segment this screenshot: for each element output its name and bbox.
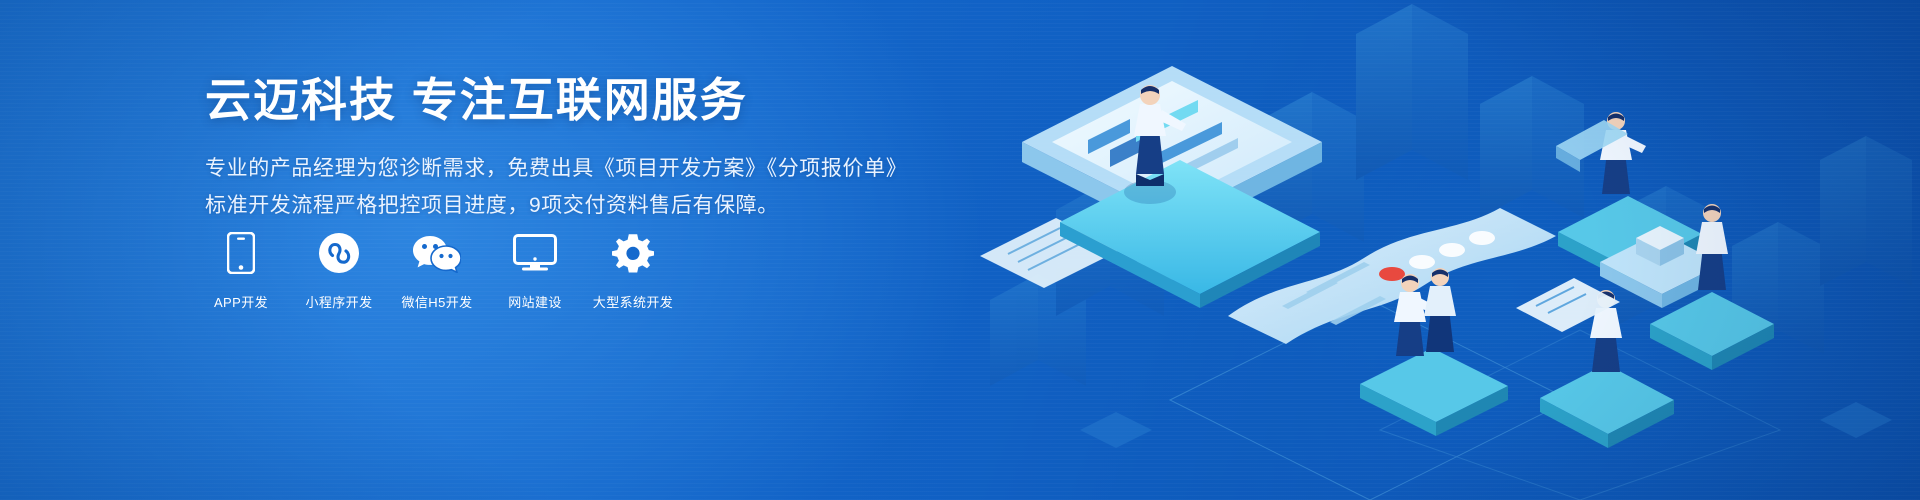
gear-icon (612, 230, 654, 276)
page-title: 云迈科技 专注互联网服务 (205, 72, 905, 128)
service-label: APP开发 (214, 292, 268, 311)
subtitle-line-2: 标准开发流程严格把控项目进度，9项交付资料售后有保障。 (205, 187, 905, 224)
service-item-website[interactable]: 网站建设 (499, 230, 571, 311)
service-item-large-system[interactable]: 大型系统开发 (597, 230, 669, 311)
service-item-app[interactable]: APP开发 (205, 230, 277, 311)
subtitle-line-1: 专业的产品经理为您诊断需求，免费出具《项目开发方案》《分项报价单》 (205, 150, 905, 187)
service-label: 网站建设 (508, 292, 562, 311)
service-item-mini-program[interactable]: 小程序开发 (303, 230, 375, 311)
service-label: 小程序开发 (305, 292, 372, 311)
subtitle-block: 专业的产品经理为您诊断需求，免费出具《项目开发方案》《分项报价单》 标准开发流程… (205, 150, 905, 225)
service-label: 微信H5开发 (401, 292, 472, 311)
banner-copy: 云迈科技 专注互联网服务 专业的产品经理为您诊断需求，免费出具《项目开发方案》《… (205, 72, 905, 225)
hero-banner: 云迈科技 专注互联网服务 专业的产品经理为您诊断需求，免费出具《项目开发方案》《… (0, 0, 1920, 500)
service-item-wechat-h5[interactable]: 微信H5开发 (401, 230, 473, 311)
service-label: 大型系统开发 (593, 292, 673, 311)
service-list: APP开发 小程序开发 微信 (205, 230, 669, 311)
wechat-icon (413, 230, 461, 276)
monitor-icon (513, 230, 557, 276)
mini-program-icon (318, 230, 360, 276)
phone-icon (227, 230, 255, 276)
isometric-illustration (960, 0, 1920, 500)
